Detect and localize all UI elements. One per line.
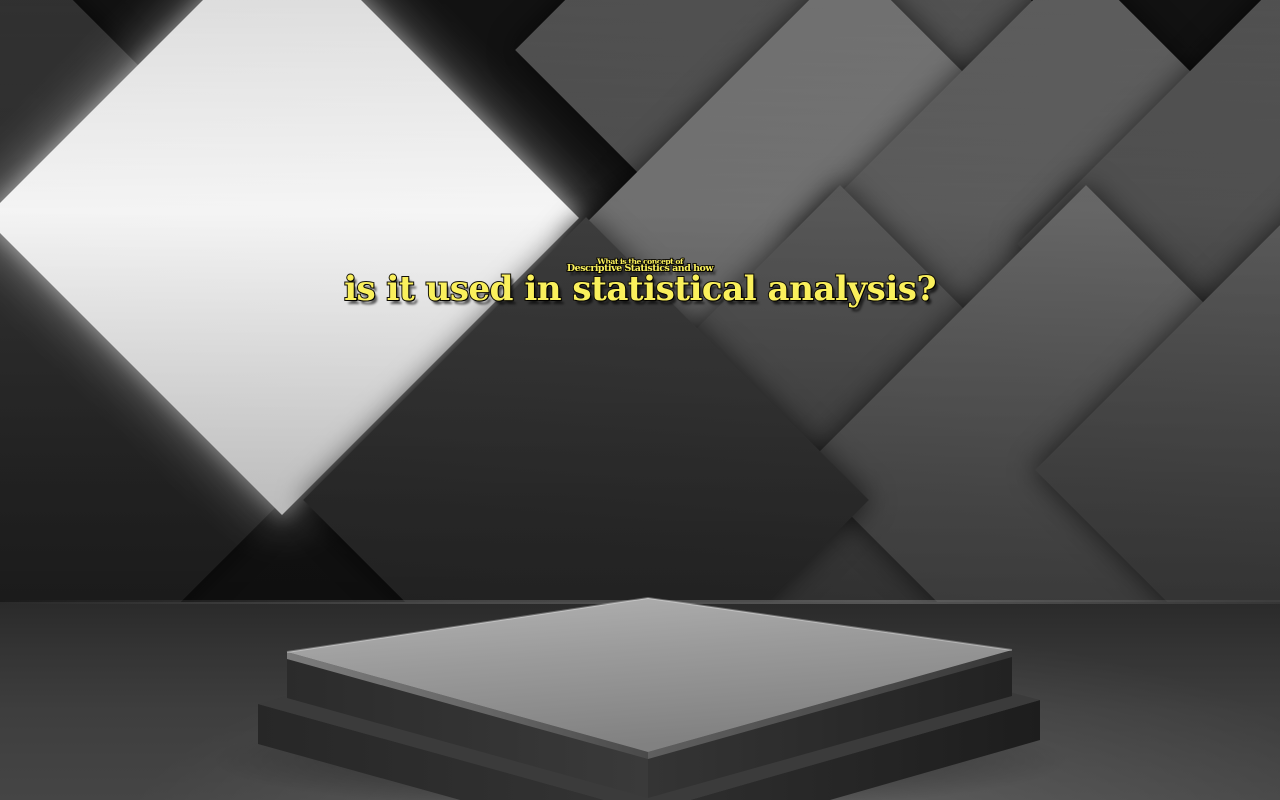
poster-canvas: What is the concept of Descriptive Stati… bbox=[0, 0, 1280, 800]
podium-group bbox=[0, 0, 1280, 800]
podium-svg bbox=[0, 0, 1280, 800]
